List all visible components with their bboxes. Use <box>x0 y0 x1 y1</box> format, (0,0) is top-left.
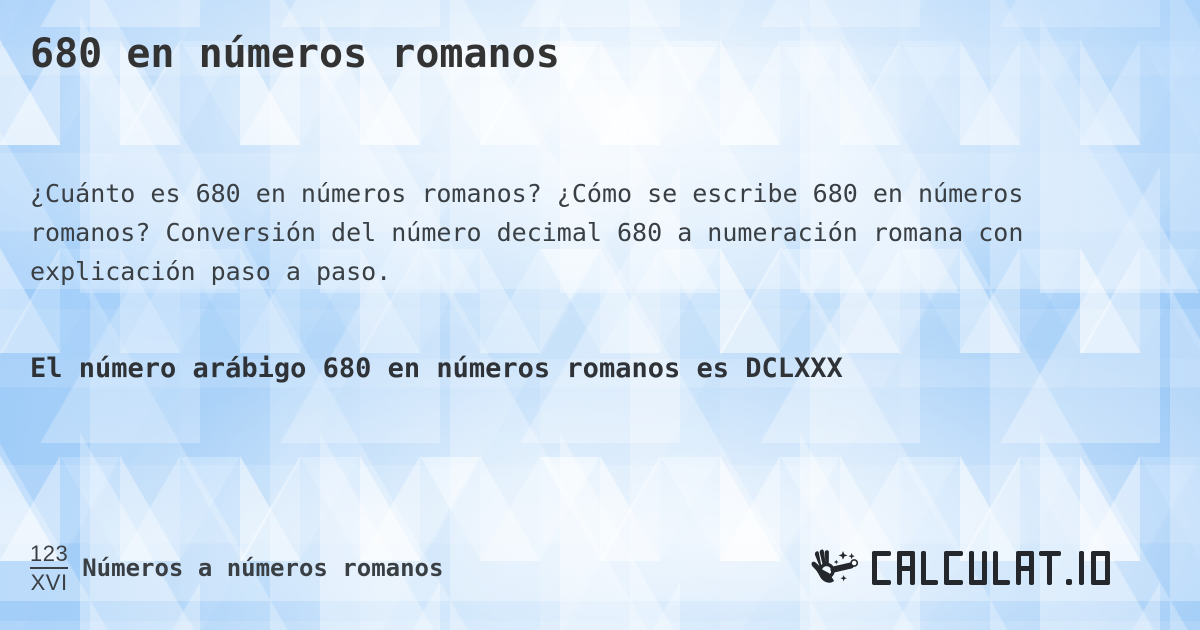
description-paragraph: ¿Cuánto es 680 en números romanos? ¿Cómo… <box>30 174 1150 291</box>
footer: 123 XVI Números a números romanos <box>30 540 1170 596</box>
numbers-to-roman-fraction-icon: 123 XVI <box>30 543 68 594</box>
fraction-denominator: XVI <box>31 569 68 594</box>
og-card: 680 en números romanos ¿Cuánto es 680 en… <box>0 0 1200 630</box>
footer-brand-right[interactable] <box>810 545 1170 591</box>
content-area: 680 en números romanos ¿Cuánto es 680 en… <box>0 0 1200 630</box>
footer-brand-left[interactable]: 123 XVI Números a números romanos <box>30 543 443 594</box>
page-title: 680 en números romanos <box>30 30 560 78</box>
footer-brand-left-label: Números a números romanos <box>82 554 443 582</box>
answer-statement: El número arábigo 680 en números romanos… <box>30 348 1150 390</box>
magic-wand-hand-icon <box>810 547 864 589</box>
fraction-numerator: 123 <box>30 543 68 569</box>
calculatio-wordmark <box>870 545 1170 591</box>
